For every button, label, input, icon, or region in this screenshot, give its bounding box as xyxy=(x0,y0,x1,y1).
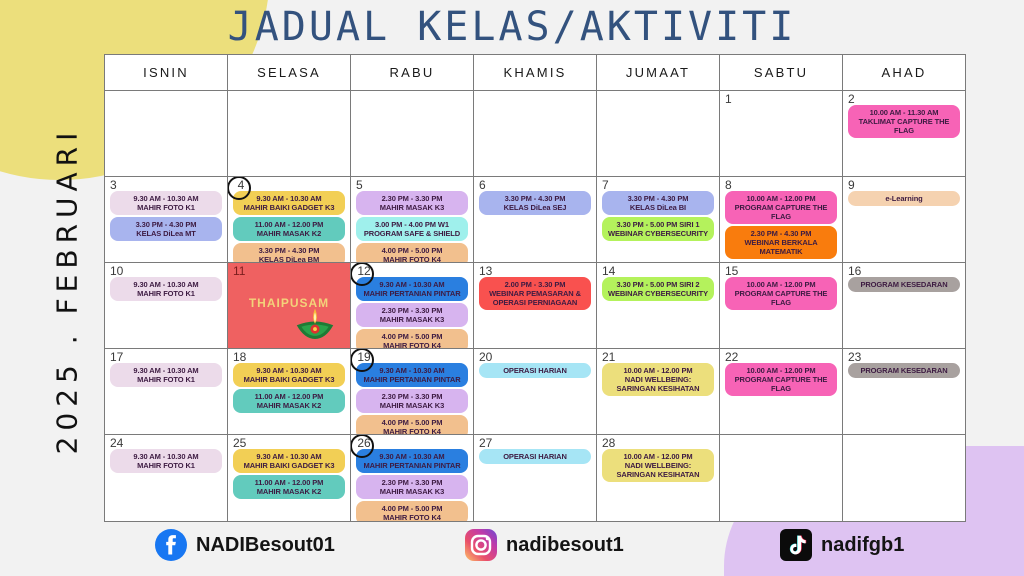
event-list: 9.30 AM - 10.30 AMMAHIR BAIKI GADGET K31… xyxy=(231,449,347,519)
event-chip[interactable]: e-Learning xyxy=(848,191,959,206)
event-time: 10.00 AM - 12.00 PM xyxy=(727,366,834,375)
event-name: MAHIR BAIKI GADGET K3 xyxy=(235,375,342,384)
event-list: 3.30 PM - 5.00 PM SIRI 2WEBINAR CYBERSEC… xyxy=(600,277,716,346)
day-cell-empty[interactable] xyxy=(474,91,597,177)
event-time: 11.00 AM - 12.00 PM xyxy=(235,478,342,487)
calendar-grid: ISNINSELASARABUKHAMISJUMAATSABTUAHAD9.30… xyxy=(104,54,966,522)
event-chip[interactable]: 11.00 AM - 12.00 PMMAHIR MASAK K2 xyxy=(233,389,344,413)
event-name: MAHIR FOTO K4 xyxy=(358,341,465,349)
event-time: 9.30 AM - 10.30 AM xyxy=(112,194,219,203)
event-chip[interactable]: 2.30 PM - 3.30 PMMAHIR MASAK K3 xyxy=(356,191,467,215)
event-name: OPERASI HARIAN xyxy=(481,452,588,461)
event-time: 2.30 PM - 4.30 PM xyxy=(727,229,834,238)
event-time: 2.30 PM - 3.30 PM xyxy=(358,392,465,401)
event-chip[interactable]: 3.30 PM - 4.30 PMKELAS DiLea SEJ xyxy=(479,191,590,215)
calendar-week-row: 249.30 AM - 10.30 AMMAHIR FOTO K1259.30 … xyxy=(105,435,965,521)
event-name: MAHIR PERTANIAN PINTAR xyxy=(358,461,465,470)
event-chip[interactable]: 2.30 PM - 3.30 PMMAHIR MASAK K3 xyxy=(356,303,467,327)
event-list: 9.30 AM - 10.30 AMMAHIR BAIKI GADGET K31… xyxy=(231,191,347,263)
event-name: MAHIR FOTO K1 xyxy=(112,289,219,298)
event-name: MAHIR FOTO K1 xyxy=(112,203,219,212)
calendar-poster: JADUAL KELAS/AKTIVITI 2025 . FEBRUARI IS… xyxy=(0,0,1024,576)
day-cell-empty[interactable] xyxy=(228,91,351,177)
weekday-header-rabu: RABU xyxy=(351,55,474,91)
event-time: 3.30 PM - 4.30 PM xyxy=(235,246,342,255)
event-name: MAHIR FOTO K4 xyxy=(358,513,465,521)
day-cell-8[interactable]: 810.00 AM - 12.00 PMPROGRAM CAPTURE THE … xyxy=(720,177,843,263)
event-name: MAHIR FOTO K4 xyxy=(358,427,465,435)
event-name: WEBINAR CYBERSECURITY xyxy=(604,289,711,298)
day-cell-27[interactable]: 27OPERASI HARIAN xyxy=(474,435,597,521)
event-chip[interactable]: 3.30 PM - 5.00 PM SIRI 1WEBINAR CYBERSEC… xyxy=(602,217,713,241)
event-time: 2.30 PM - 3.30 PM xyxy=(358,478,465,487)
event-time: 9.30 AM - 10.30 AM xyxy=(235,452,342,461)
day-cell-empty[interactable] xyxy=(843,435,965,521)
event-chip[interactable]: 10.00 AM - 12.00 PMPROGRAM CAPTURE THE F… xyxy=(725,277,836,310)
day-cell-24[interactable]: 249.30 AM - 10.30 AMMAHIR FOTO K1 xyxy=(105,435,228,521)
day-cell-15[interactable]: 1510.00 AM - 12.00 PMPROGRAM CAPTURE THE… xyxy=(720,263,843,349)
day-cell-11[interactable]: 11THAIPUSAM xyxy=(228,263,351,349)
event-name: PROGRAM CAPTURE THE FLAG xyxy=(727,289,834,307)
event-name: MAHIR FOTO K1 xyxy=(112,461,219,470)
event-list: 9.30 AM - 10.30 AMMAHIR FOTO K1 xyxy=(108,363,224,432)
day-number: 19 xyxy=(354,351,372,364)
weekday-header-selasa: SELASA xyxy=(228,55,351,91)
event-chip[interactable]: 9.30 AM - 10.30 AMMAHIR PERTANIAN PINTAR xyxy=(356,363,467,387)
page-title: JADUAL KELAS/AKTIVITI xyxy=(0,4,1024,50)
event-list xyxy=(108,92,224,174)
day-number: 12 xyxy=(354,265,372,278)
event-name: PROGRAM CAPTURE THE FLAG xyxy=(727,375,834,393)
day-cell-17[interactable]: 179.30 AM - 10.30 AMMAHIR FOTO K1 xyxy=(105,349,228,435)
event-name: NADI WELLBEING: SARINGAN KESIHATAN xyxy=(604,461,711,479)
day-cell-18[interactable]: 189.30 AM - 10.30 AMMAHIR BAIKI GADGET K… xyxy=(228,349,351,435)
event-list: 9.30 AM - 10.30 AMMAHIR PERTANIAN PINTAR… xyxy=(354,277,470,349)
weekday-header-sabtu: SABTU xyxy=(720,55,843,91)
event-chip[interactable]: 4.00 PM - 5.00 PMMAHIR FOTO K4 xyxy=(356,329,467,349)
month-year-text: 2025 . FEBRUARI xyxy=(51,126,84,454)
event-list: 3.30 PM - 4.30 PMKELAS DiLea BI3.30 PM -… xyxy=(600,191,716,260)
event-chip[interactable]: 3.30 PM - 4.30 PMKELAS DiLea BI xyxy=(602,191,713,215)
event-chip[interactable]: 11.00 AM - 12.00 PMMAHIR MASAK K2 xyxy=(233,217,344,241)
event-name: KELAS DiLea MT xyxy=(112,229,219,238)
day-cell-20[interactable]: 20OPERASI HARIAN xyxy=(474,349,597,435)
event-time: 4.00 PM - 5.00 PM xyxy=(358,504,465,513)
weekday-header-isnin: ISNIN xyxy=(105,55,228,91)
event-name: MAHIR MASAK K3 xyxy=(358,203,465,212)
event-list xyxy=(723,436,839,519)
event-list xyxy=(354,92,470,174)
event-chip[interactable]: 3.30 PM - 5.00 PM SIRI 2WEBINAR CYBERSEC… xyxy=(602,277,713,301)
event-time: 9.30 AM - 10.30 AM xyxy=(358,452,465,461)
event-list: e-Learning xyxy=(846,191,962,260)
event-list: PROGRAM KESEDARAN xyxy=(846,277,962,346)
day-cell-7[interactable]: 73.30 PM - 4.30 PMKELAS DiLea BI3.30 PM … xyxy=(597,177,720,263)
social-handle: nadifgb1 xyxy=(821,534,904,557)
event-time: 10.00 AM - 12.00 PM xyxy=(727,194,834,203)
event-time: 4.00 PM - 5.00 PM xyxy=(358,246,465,255)
event-name: MAHIR MASAK K2 xyxy=(235,487,342,496)
event-name: KELAS DiLea SEJ xyxy=(481,203,588,212)
day-number: 11 xyxy=(231,265,347,278)
social-handle: nadibesout1 xyxy=(506,534,624,557)
month-year-label: 2025 . FEBRUARI xyxy=(40,55,94,525)
event-time: 4.00 PM - 5.00 PM xyxy=(358,418,465,427)
diya-lamp-icon xyxy=(292,304,338,342)
event-list: OPERASI HARIAN xyxy=(477,449,593,519)
event-chip[interactable]: OPERASI HARIAN xyxy=(479,363,590,378)
event-name: MAHIR MASAK K3 xyxy=(358,487,465,496)
day-cell-empty[interactable] xyxy=(597,91,720,177)
event-chip[interactable]: 9.30 AM - 10.30 AMMAHIR BAIKI GADGET K3 xyxy=(233,363,344,387)
event-chip[interactable]: 2.00 PM - 3.30 PMWEBINAR PEMASARAN & OPE… xyxy=(479,277,590,310)
day-cell-2[interactable]: 210.00 AM - 11.30 AMTAKLIMAT CAPTURE THE… xyxy=(843,91,965,177)
event-time: 2.00 PM - 3.30 PM xyxy=(481,280,588,289)
event-name: MAHIR MASAK K2 xyxy=(235,401,342,410)
event-list xyxy=(723,105,839,174)
event-list: 10.00 AM - 12.00 PMPROGRAM CAPTURE THE F… xyxy=(723,277,839,346)
event-name: WEBINAR CYBERSECURITY xyxy=(604,229,711,238)
event-chip[interactable]: 9.30 AM - 10.30 AMMAHIR FOTO K1 xyxy=(110,449,221,473)
event-list xyxy=(846,436,962,519)
event-chip[interactable]: 3.30 PM - 4.30 PMKELAS DiLea MT xyxy=(110,217,221,241)
event-name: MAHIR MASAK K3 xyxy=(358,401,465,410)
event-list: 9.30 AM - 10.30 AMMAHIR PERTANIAN PINTAR… xyxy=(354,363,470,435)
day-cell-21[interactable]: 2110.00 AM - 12.00 PMNADI WELLBEING: SAR… xyxy=(597,349,720,435)
weekday-header-jumaat: JUMAAT xyxy=(597,55,720,91)
event-name: KELAS DiLea BI xyxy=(604,203,711,212)
day-cell-3[interactable]: 39.30 AM - 10.30 AMMAHIR FOTO K13.30 PM … xyxy=(105,177,228,263)
event-time: 9.30 AM - 10.30 AM xyxy=(358,366,465,375)
event-time: 4.00 PM - 5.00 PM xyxy=(358,332,465,341)
event-chip[interactable]: 4.00 PM - 5.00 PMMAHIR FOTO K4 xyxy=(356,415,467,435)
event-list: OPERASI HARIAN xyxy=(477,363,593,432)
event-name: TAKLIMAT CAPTURE THE FLAG xyxy=(850,117,957,135)
instagram-icon xyxy=(465,529,497,561)
event-time: 3.30 PM - 4.30 PM xyxy=(481,194,588,203)
weekday-header-khamis: KHAMIS xyxy=(474,55,597,91)
event-time: 11.00 AM - 12.00 PM xyxy=(235,220,342,229)
day-cell-14[interactable]: 143.30 PM - 5.00 PM SIRI 2WEBINAR CYBERS… xyxy=(597,263,720,349)
event-chip[interactable]: 9.30 AM - 10.30 AMMAHIR FOTO K1 xyxy=(110,277,221,301)
day-cell-empty[interactable] xyxy=(105,91,228,177)
event-list xyxy=(600,92,716,174)
event-time: 3.00 PM - 4.00 PM W1 xyxy=(358,220,465,229)
event-chip[interactable]: 10.00 AM - 12.00 PMPROGRAM CAPTURE THE F… xyxy=(725,363,836,396)
event-list: 10.00 AM - 12.00 PMPROGRAM CAPTURE THE F… xyxy=(723,191,839,260)
event-time: 9.30 AM - 10.30 AM xyxy=(112,452,219,461)
social-item-nadifgb1[interactable]: nadifgb1 xyxy=(780,529,904,561)
event-chip[interactable]: 9.30 AM - 10.30 AMMAHIR BAIKI GADGET K3 xyxy=(233,449,344,473)
event-chip[interactable]: 9.30 AM - 10.30 AMMAHIR BAIKI GADGET K3 xyxy=(233,191,344,215)
day-cell-13[interactable]: 132.00 PM - 3.30 PMWEBINAR PEMASARAN & O… xyxy=(474,263,597,349)
tiktok-icon xyxy=(780,529,812,561)
event-name: MAHIR BAIKI GADGET K3 xyxy=(235,203,342,212)
event-time: 9.30 AM - 10.30 AM xyxy=(358,280,465,289)
day-cell-16[interactable]: 16PROGRAM KESEDARAN xyxy=(843,263,965,349)
event-list: 9.30 AM - 10.30 AMMAHIR FOTO K13.30 PM -… xyxy=(108,191,224,260)
weekday-header-row: ISNINSELASARABUKHAMISJUMAATSABTUAHAD xyxy=(105,55,965,91)
event-list: 3.30 PM - 4.30 PMKELAS DiLea SEJ xyxy=(477,191,593,260)
calendar-week-row: 9.30 AM - 10.30 AMMAHIR PERTANIAN PINTAR… xyxy=(105,91,965,177)
event-list: 9.30 AM - 10.30 AMMAHIR FOTO K1 xyxy=(108,449,224,519)
event-time: 10.00 AM - 12.00 PM xyxy=(604,366,711,375)
event-time: 10.00 AM - 12.00 PM xyxy=(604,452,711,461)
day-cell-6[interactable]: 63.30 PM - 4.30 PMKELAS DiLea SEJ xyxy=(474,177,597,263)
day-cell-19[interactable]: 199.30 AM - 10.30 AMMAHIR PERTANIAN PINT… xyxy=(351,349,474,435)
event-name: MAHIR FOTO K1 xyxy=(112,375,219,384)
event-time: 9.30 AM - 10.30 AM xyxy=(112,280,219,289)
day-cell-10[interactable]: 109.30 AM - 10.30 AMMAHIR FOTO K1 xyxy=(105,263,228,349)
event-chip[interactable]: 11.00 AM - 12.00 PMMAHIR MASAK K2 xyxy=(233,475,344,499)
event-name: MAHIR PERTANIAN PINTAR xyxy=(358,289,465,298)
day-cell-5[interactable]: 52.30 PM - 3.30 PMMAHIR MASAK K33.00 PM … xyxy=(351,177,474,263)
event-time: 9.30 AM - 10.30 AM xyxy=(112,366,219,375)
event-name: PROGRAM KESEDARAN xyxy=(850,280,957,289)
day-number: 4 xyxy=(231,179,249,192)
day-cell-22[interactable]: 2210.00 AM - 12.00 PMPROGRAM CAPTURE THE… xyxy=(720,349,843,435)
event-list: 10.00 AM - 12.00 PMPROGRAM CAPTURE THE F… xyxy=(723,363,839,432)
event-list: 9.30 AM - 10.30 AMMAHIR PERTANIAN PINTAR… xyxy=(354,449,470,521)
event-name: PROGRAM SAFE & SHIELD xyxy=(358,229,465,238)
social-item-nadibesout01[interactable]: NADIBesout01 xyxy=(155,529,335,561)
event-name: PROGRAM CAPTURE THE FLAG xyxy=(727,203,834,221)
event-time: 11.00 AM - 12.00 PM xyxy=(235,392,342,401)
day-cell-9[interactable]: 9e-Learning xyxy=(843,177,965,263)
day-cell-12[interactable]: 129.30 AM - 10.30 AMMAHIR PERTANIAN PINT… xyxy=(351,263,474,349)
event-list: 10.00 AM - 11.30 AMTAKLIMAT CAPTURE THE … xyxy=(846,105,962,174)
event-chip[interactable]: 9.30 AM - 10.30 AMMAHIR PERTANIAN PINTAR xyxy=(356,277,467,301)
event-time: 10.00 AM - 12.00 PM xyxy=(727,280,834,289)
event-time: 10.00 AM - 11.30 AM xyxy=(850,108,957,117)
event-list xyxy=(477,92,593,174)
event-chip[interactable]: 2.30 PM - 4.30 PMWEBINAR BERKALA MATEMAT… xyxy=(725,226,836,259)
event-time: 3.30 PM - 4.30 PM xyxy=(604,194,711,203)
day-cell-1[interactable]: 1 xyxy=(720,91,843,177)
event-chip[interactable]: 10.00 AM - 12.00 PMNADI WELLBEING: SARIN… xyxy=(602,363,713,396)
calendar-week-row: 39.30 AM - 10.30 AMMAHIR FOTO K13.30 PM … xyxy=(105,177,965,263)
event-list: 9.30 AM - 10.30 AMMAHIR FOTO K1 xyxy=(108,277,224,346)
day-cell-empty[interactable]: 9.30 AM - 10.30 AMMAHIR PERTANIAN PINTAR xyxy=(351,91,474,177)
event-list: 9.30 AM - 10.30 AMMAHIR BAIKI GADGET K31… xyxy=(231,363,347,432)
event-chip[interactable]: 4.00 PM - 5.00 PMMAHIR FOTO K4 xyxy=(356,243,467,263)
event-name: MAHIR MASAK K2 xyxy=(235,229,342,238)
social-item-nadibesout1[interactable]: nadibesout1 xyxy=(465,529,624,561)
event-name: MAHIR PERTANIAN PINTAR xyxy=(358,375,465,384)
event-chip[interactable]: 9.30 AM - 10.30 AMMAHIR FOTO K1 xyxy=(110,363,221,387)
weekday-header-ahad: AHAD xyxy=(843,55,965,91)
event-chip[interactable]: 10.00 AM - 12.00 PMPROGRAM CAPTURE THE F… xyxy=(725,191,836,224)
event-time: 3.30 PM - 5.00 PM SIRI 1 xyxy=(604,220,711,229)
event-chip[interactable]: 9.30 AM - 10.30 AMMAHIR PERTANIAN PINTAR xyxy=(356,449,467,473)
event-list: 10.00 AM - 12.00 PMNADI WELLBEING: SARIN… xyxy=(600,363,716,432)
event-name: WEBINAR PEMASARAN & OPERASI PERNIAGAAN xyxy=(481,289,588,307)
day-cell-25[interactable]: 259.30 AM - 10.30 AMMAHIR BAIKI GADGET K… xyxy=(228,435,351,521)
event-time: 9.30 AM - 10.30 AM xyxy=(235,194,342,203)
event-chip[interactable]: 3.30 PM - 4.30 PMKELAS DiLea BM xyxy=(233,243,344,263)
day-cell-empty[interactable] xyxy=(720,435,843,521)
day-cell-28[interactable]: 2810.00 AM - 12.00 PMNADI WELLBEING: SAR… xyxy=(597,435,720,521)
social-handle: NADIBesout01 xyxy=(196,534,335,557)
event-name: KELAS DiLea BM xyxy=(235,255,342,263)
facebook-icon xyxy=(155,529,187,561)
event-list: 2.30 PM - 3.30 PMMAHIR MASAK K33.00 PM -… xyxy=(354,191,470,263)
day-cell-23[interactable]: 23PROGRAM KESEDARAN xyxy=(843,349,965,435)
event-chip[interactable]: PROGRAM KESEDARAN xyxy=(848,277,959,292)
event-list: 2.00 PM - 3.30 PMWEBINAR PEMASARAN & OPE… xyxy=(477,277,593,346)
event-time: 9.30 AM - 10.30 AM xyxy=(235,366,342,375)
event-chip[interactable]: 2.30 PM - 3.30 PMMAHIR MASAK K3 xyxy=(356,475,467,499)
event-list: 10.00 AM - 12.00 PMNADI WELLBEING: SARIN… xyxy=(600,449,716,519)
day-number: 26 xyxy=(354,437,372,450)
event-name: PROGRAM KESEDARAN xyxy=(850,366,957,375)
event-name: MAHIR BAIKI GADGET K3 xyxy=(235,461,342,470)
event-list: PROGRAM KESEDARAN xyxy=(846,363,962,432)
event-time: 3.30 PM - 5.00 PM SIRI 2 xyxy=(604,280,711,289)
event-name: MAHIR MASAK K3 xyxy=(358,315,465,324)
event-name: OPERASI HARIAN xyxy=(481,366,588,375)
event-name: NADI WELLBEING: SARINGAN KESIHATAN xyxy=(604,375,711,393)
event-name: WEBINAR BERKALA MATEMATIK xyxy=(727,238,834,256)
event-time: 2.30 PM - 3.30 PM xyxy=(358,306,465,315)
event-chip[interactable]: 2.30 PM - 3.30 PMMAHIR MASAK K3 xyxy=(356,389,467,413)
event-chip[interactable]: 3.00 PM - 4.00 PM W1PROGRAM SAFE & SHIEL… xyxy=(356,217,467,241)
day-cell-26[interactable]: 269.30 AM - 10.30 AMMAHIR PERTANIAN PINT… xyxy=(351,435,474,521)
event-time: 2.30 PM - 3.30 PM xyxy=(358,194,465,203)
event-name: MAHIR FOTO K4 xyxy=(358,255,465,263)
event-chip[interactable]: 4.00 PM - 5.00 PMMAHIR FOTO K4 xyxy=(356,501,467,521)
day-cell-4[interactable]: 49.30 AM - 10.30 AMMAHIR BAIKI GADGET K3… xyxy=(228,177,351,263)
event-chip[interactable]: 10.00 AM - 12.00 PMNADI WELLBEING: SARIN… xyxy=(602,449,713,482)
event-list xyxy=(231,92,347,174)
event-chip[interactable]: OPERASI HARIAN xyxy=(479,449,590,464)
event-chip[interactable]: PROGRAM KESEDARAN xyxy=(848,363,959,378)
event-time: 3.30 PM - 4.30 PM xyxy=(112,220,219,229)
event-chip[interactable]: 10.00 AM - 11.30 AMTAKLIMAT CAPTURE THE … xyxy=(848,105,959,138)
social-footer: NADIBesout01nadibesout1nadifgb1 xyxy=(0,522,1024,568)
event-name: e-Learning xyxy=(850,194,957,203)
calendar-week-row: 179.30 AM - 10.30 AMMAHIR FOTO K1189.30 … xyxy=(105,349,965,435)
event-chip[interactable]: 9.30 AM - 10.30 AMMAHIR FOTO K1 xyxy=(110,191,221,215)
calendar-week-row: 109.30 AM - 10.30 AMMAHIR FOTO K111THAIP… xyxy=(105,263,965,349)
